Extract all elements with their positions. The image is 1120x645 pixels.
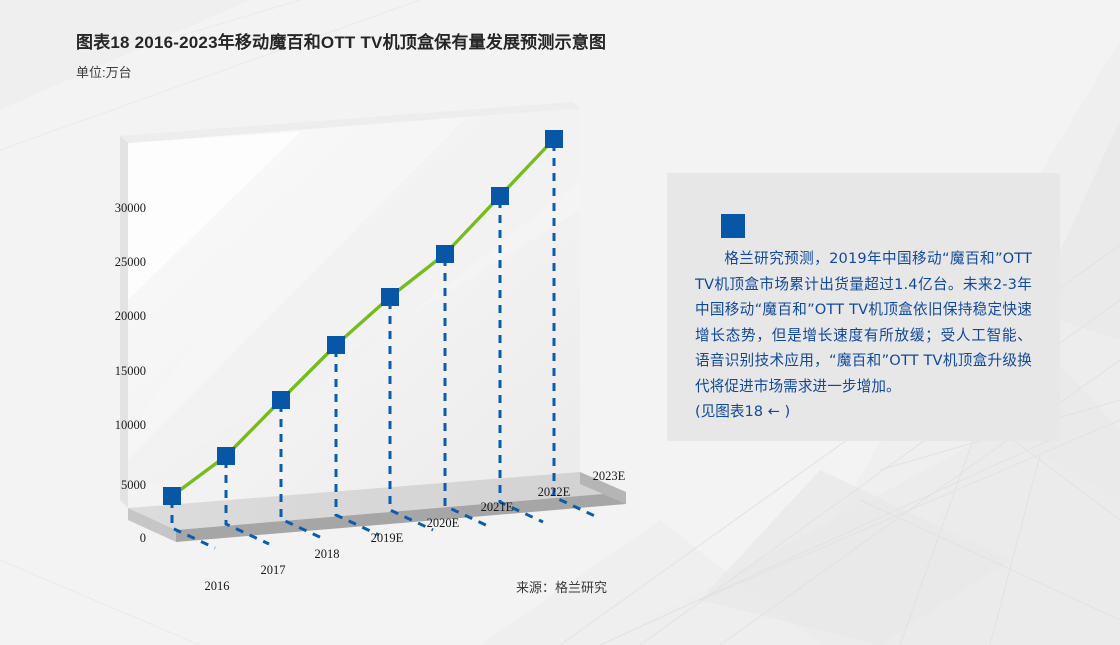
source-label: 来源：格兰研究	[516, 580, 607, 595]
chart-3d-backwall	[120, 102, 580, 508]
x-tick-2019E: 2019E	[371, 531, 404, 545]
y-tick-10000: 10000	[115, 418, 146, 432]
y-tick-5000: 5000	[121, 478, 146, 492]
header: 图表18 2016-2023年移动魔百和OTT TV机顶盒保有量发展预测示意图 …	[76, 28, 606, 81]
x-tick-2020E: 2020E	[427, 516, 460, 530]
y-tick-25000: 25000	[115, 255, 146, 269]
x-tick-2021E: 2021E	[481, 500, 514, 514]
commentary-reference: (见图表18 ← )	[695, 399, 1032, 425]
line-chart-3d: 30000 25000 20000 15000 10000 5000 0 201…	[0, 0, 660, 645]
y-tick-0: 0	[140, 531, 146, 545]
chart-container: 30000 25000 20000 15000 10000 5000 0 201…	[0, 0, 660, 645]
unit-label: 单位:万台	[76, 62, 606, 81]
y-tick-15000: 15000	[115, 364, 146, 378]
x-tick-2022E: 2022E	[538, 485, 571, 499]
y-tick-20000: 20000	[115, 309, 146, 323]
y-tick-30000: 30000	[115, 201, 146, 215]
x-tick-2016: 2016	[205, 579, 230, 593]
x-tick-2023E: 2023E	[593, 469, 626, 483]
blue-square-bullet-icon	[721, 214, 745, 238]
commentary-text: 格兰研究预测，2019年中国移动“魔百和”OTT TV机顶盒市场累计出货量超过1…	[695, 246, 1032, 399]
x-tick-2018: 2018	[315, 547, 340, 561]
x-tick-2017: 2017	[261, 563, 286, 577]
page-title: 图表18 2016-2023年移动魔百和OTT TV机顶盒保有量发展预测示意图	[76, 28, 606, 53]
commentary-panel: 格兰研究预测，2019年中国移动“魔百和”OTT TV机顶盒市场累计出货量超过1…	[667, 173, 1060, 441]
